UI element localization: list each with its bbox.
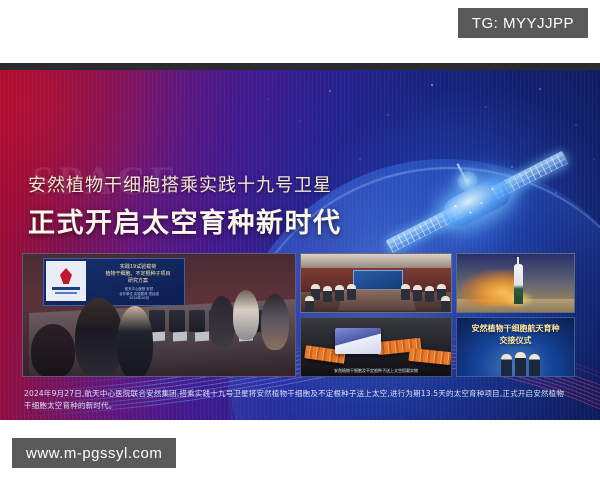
- meeting-room-wide-photo: [300, 253, 452, 313]
- ceremony-participant: [501, 354, 512, 376]
- headline-block: SPACE 安然植物干细胞搭乘实践十九号卫星 正式开启太空育种新时代: [28, 171, 342, 240]
- screen-sub-line3: 2024年10月: [104, 296, 174, 301]
- sample-containers-photo: 安然植物干细胞及不定根种子送上太空搭载实物: [300, 317, 452, 377]
- watermark-bottom-left: www.m-pgssyl.com: [12, 438, 176, 468]
- promo-banner: SPACE 安然植物干细胞搭乘实践十九号卫星 正式开启太空育种新时代 实践19试…: [0, 63, 600, 420]
- attendee: [261, 294, 289, 350]
- samples-caption: 安然植物干细胞及不定根种子送上太空搭载实物: [301, 368, 451, 377]
- attendee: [209, 296, 235, 348]
- ceremony-title-line2: 交接仪式: [457, 335, 574, 346]
- sample-storage-box: [335, 328, 381, 354]
- screen-title-line2: 植物干细胞、不定根种子项目: [96, 271, 180, 278]
- ceremony-title-line1: 安然植物干细胞航天育种: [457, 323, 574, 334]
- banner-top-edge: [0, 63, 600, 70]
- screen-subtitle: 航天中心医院 安然 合作单位 实验载荷 项目组 2024年10月: [104, 287, 174, 301]
- rocket-body: [514, 264, 523, 304]
- projection-screen: 实践19试验载荷 植物干细胞、不定根种子项目 研究方案 航天中心医院 安然 合作…: [43, 258, 185, 306]
- institute-logo: [46, 261, 86, 301]
- screen-title-line1: 实践19试验载荷: [96, 264, 180, 271]
- satellite-illustration: [372, 143, 582, 261]
- headline-line-1: 安然植物干细胞搭乘实践十九号卫星: [28, 171, 342, 197]
- rocket-tip: [517, 257, 519, 266]
- watermark-top-right: TG: MYYJJPP: [458, 8, 588, 38]
- screen-title-line3: 研究方案: [96, 278, 180, 285]
- conference-room-photo: 实践19试验载荷 植物干细胞、不定根种子项目 研究方案 航天中心医院 安然 合作…: [22, 253, 296, 377]
- logo-bar: [52, 287, 80, 290]
- logo-bar-secondary: [55, 292, 77, 294]
- attendee: [75, 298, 123, 377]
- caption-line-2: 干细胞太空育种的新时代。: [24, 400, 580, 412]
- headline-line-2: 正式开启太空育种新时代: [28, 201, 342, 240]
- caption-line-1: 2024年9月27日,航天中心医院联合安然集团,搭乘实践十九号卫星将安然植物干细…: [24, 388, 580, 400]
- attendee: [31, 324, 75, 377]
- attendee: [233, 290, 259, 340]
- ceremony-participant: [515, 352, 526, 376]
- rocket-launch-photo: [456, 253, 575, 313]
- attendee: [117, 306, 153, 377]
- logo-shield-icon: [60, 268, 72, 284]
- screen-title: 实践19试验载荷 植物干细胞、不定根种子项目 研究方案: [96, 264, 180, 285]
- meeting-screen: [353, 270, 403, 290]
- banner-caption: 2024年9月27日,航天中心医院联合安然集团,搭乘实践十九号卫星将安然植物干细…: [24, 388, 580, 412]
- handover-ceremony-photo: 安然植物干细胞航天育种 交接仪式: [456, 317, 575, 377]
- ceremony-participant: [529, 354, 540, 376]
- photo-collage: 实践19试验载荷 植物干细胞、不定根种子项目 研究方案 航天中心医院 安然 合作…: [22, 253, 553, 377]
